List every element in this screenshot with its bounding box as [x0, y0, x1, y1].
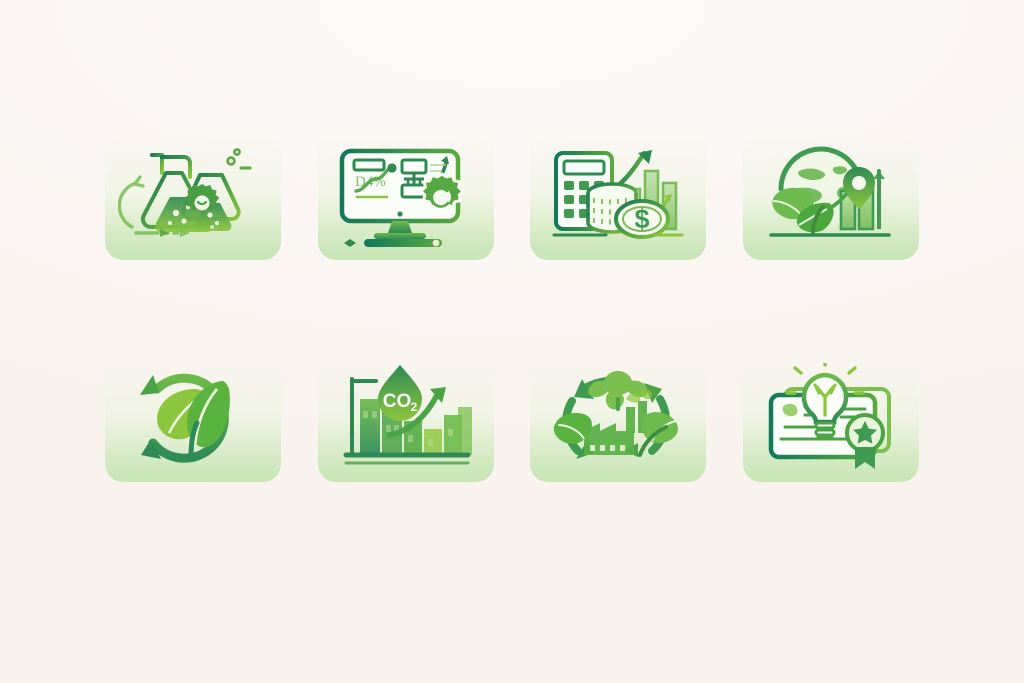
card-label: GHG Reduction Analysis: [347, 496, 465, 539]
svg-text:2: 2: [410, 400, 417, 414]
card-label: Techno-Economic Analysis (TEA): [552, 273, 685, 316]
card-decarbonization-strategies[interactable]: Decarbonization Strategies: [517, 356, 720, 561]
card-techno-economic-analysis[interactable]: $ Techno-Economic Analysis (TEA): [517, 134, 720, 338]
label-line-1: Process: [136, 273, 250, 295]
calculator-coins-chart-icon: $: [542, 141, 694, 253]
icon-tile: CO 2: [318, 356, 494, 482]
label-line-3: Modeling: [359, 316, 453, 338]
title-divider: [366, 106, 658, 108]
icon-tile: [105, 356, 281, 482]
card-label: Market & Feasibility Studies: [763, 273, 898, 316]
globe-leaf-pin-chart-icon: [755, 141, 907, 253]
page-header: What We Help With: [0, 0, 1024, 108]
label-line-1: GHG Reduction: [347, 496, 465, 518]
card-ghg-reduction-analysis[interactable]: CO 2 GHG Reduction Analysis: [305, 356, 508, 561]
icon-tile: [743, 356, 919, 482]
card-life-cycle-assessment[interactable]: Life Cycle Assessment (LCA): [92, 356, 295, 561]
co2-droplet-barchart-icon: CO 2: [330, 363, 482, 475]
monitor-flowchart-gear-icon: D4%: [330, 141, 482, 253]
icon-tile: $: [530, 134, 706, 260]
label-line-1: Intellectual Property: [757, 496, 905, 518]
card-label: Process Simulation & Modeling: [359, 273, 453, 338]
icon-tile: [743, 134, 919, 260]
label-line-2: Feasibility Studies: [763, 295, 898, 317]
label-line-2: Development &: [136, 295, 250, 317]
label-line-2: Simulation &: [359, 295, 453, 317]
leaf-recycle-circle-icon: [117, 363, 269, 475]
card-label: Intellectual Property (IP) Development S…: [757, 496, 905, 561]
label-line-1: Market &: [763, 273, 898, 295]
icon-tile: D4%: [318, 134, 494, 260]
label-line-1: Process: [359, 273, 453, 295]
flasks-gear-icon: [118, 141, 268, 253]
label-line-2: Analysis: [347, 517, 465, 539]
label-line-1: Life Cycle: [124, 496, 263, 518]
label-line-3: Support: [757, 539, 905, 561]
card-ip-development-support[interactable]: Intellectual Property (IP) Development S…: [730, 356, 933, 561]
label-line-2: (IP) Development: [757, 517, 905, 539]
recycle-factory-leaves-icon: [542, 363, 694, 475]
svg-text:CO: CO: [383, 391, 412, 412]
label-line-2: Strategies: [558, 517, 679, 539]
card-process-development-optimization[interactable]: Process Development & Optimization: [92, 134, 295, 338]
svg-text:D4%: D4%: [355, 174, 386, 190]
card-process-simulation-modeling[interactable]: D4% Process: [305, 134, 508, 338]
svg-text:$: $: [635, 204, 650, 234]
card-market-feasibility-studies[interactable]: Market & Feasibility Studies: [730, 134, 933, 338]
icon-tile: [105, 134, 281, 260]
icon-tile: [530, 356, 706, 482]
label-line-1: Techno-Economic: [552, 273, 685, 295]
label-line-2: Assessment (LCA): [124, 517, 263, 539]
services-grid: Process Development & Optimization: [92, 134, 932, 560]
page-title: What We Help With: [377, 50, 646, 84]
certificate-bulb-award-icon: [755, 363, 907, 475]
card-label: Life Cycle Assessment (LCA): [124, 496, 263, 539]
label-line-1: Decarbonization: [558, 496, 679, 518]
label-line-3: Optimization: [136, 316, 250, 338]
card-label: Process Development & Optimization: [136, 273, 250, 338]
card-label: Decarbonization Strategies: [558, 496, 679, 539]
page-root: What We Help With: [0, 0, 1024, 683]
label-line-2: Analysis (TEA): [552, 295, 685, 317]
